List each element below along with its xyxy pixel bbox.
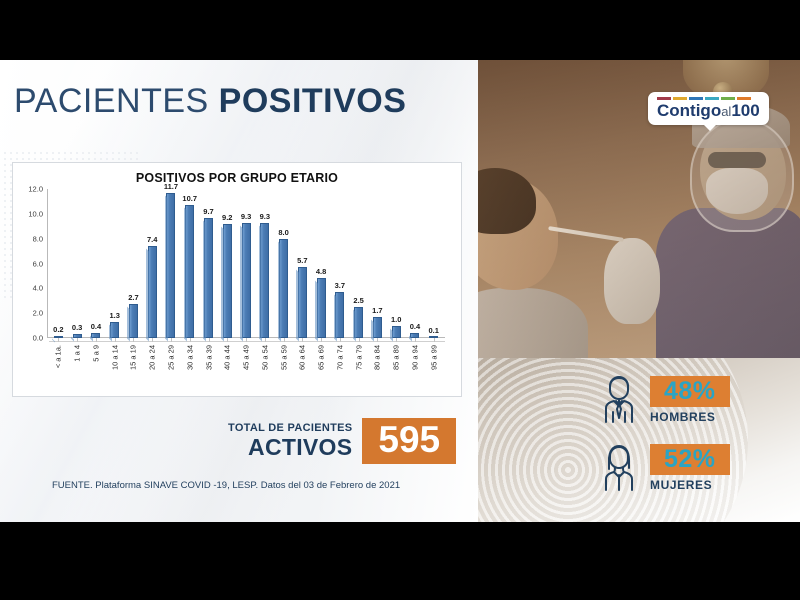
bar	[279, 239, 288, 338]
x-tick-label: 45 a 49	[242, 345, 251, 370]
x-tick-label: 10 a 14	[110, 345, 119, 370]
source-note: FUENTE. Plataforma SINAVE COVID -19, LES…	[52, 480, 400, 491]
total-label-line2: ACTIVOS	[228, 436, 352, 459]
bar-value-label: 0.4	[410, 322, 420, 331]
total-label-group: TOTAL DE PACIENTES ACTIVOS	[228, 423, 362, 459]
mujeres-label: MUJERES	[650, 478, 712, 492]
bar	[204, 218, 213, 338]
logo-bar-3	[705, 97, 719, 100]
bar	[260, 223, 269, 338]
total-active-patients: TOTAL DE PACIENTES ACTIVOS 595	[228, 418, 456, 464]
logo-name-light: al	[721, 104, 731, 119]
bar-value-label: 8.0	[278, 228, 288, 237]
bar-group: 3.770 a 74	[330, 189, 349, 338]
x-tick-label: 90 a 94	[410, 345, 419, 370]
logo-bar-1	[673, 97, 687, 100]
x-tick-label: 35 a 39	[204, 345, 213, 370]
x-tick	[377, 338, 378, 342]
y-tick-label: 0.0	[33, 334, 43, 343]
bar-group: 10.730 a 34	[180, 189, 199, 338]
female-user-icon	[596, 440, 642, 492]
page-title-bold: POSITIVOS	[219, 82, 407, 120]
gender-stats-panel: 48% HOMBRES 52% MUJ	[478, 358, 800, 522]
bar	[373, 317, 382, 338]
x-tick-label: 80 a 84	[373, 345, 382, 370]
x-tick-label: 70 a 74	[335, 345, 344, 370]
bar-group: 0.490 a 94	[406, 189, 425, 338]
bar	[317, 278, 326, 338]
x-tick	[133, 338, 134, 342]
x-tick-label: 30 a 34	[185, 345, 194, 370]
x-tick-label: 50 a 54	[260, 345, 269, 370]
x-tick-label: 1 a 4	[73, 345, 82, 362]
bar-group: 4.865 a 69	[312, 189, 331, 338]
bar-group: 9.345 a 49	[237, 189, 256, 338]
x-tick-label: 5 a 9	[91, 345, 100, 362]
bar-group: 1.085 a 89	[387, 189, 406, 338]
x-tick	[171, 338, 172, 342]
bar-group: 1.310 a 14	[105, 189, 124, 338]
bar-group: 0.31 a 4	[68, 189, 87, 338]
bar	[354, 307, 363, 338]
bar	[242, 223, 251, 338]
x-tick-label: 75 a 79	[354, 345, 363, 370]
x-tick-label: 40 a 44	[223, 345, 232, 370]
bar-group: 2.575 a 79	[349, 189, 368, 338]
bar-group: 9.350 a 54	[255, 189, 274, 338]
x-tick	[396, 338, 397, 342]
bar-value-label: 3.7	[335, 281, 345, 290]
bar-series: 0.2< a 1a.0.31 a 40.45 a 91.310 a 142.71…	[49, 189, 443, 338]
bar-group: 9.735 a 39	[199, 189, 218, 338]
x-tick	[96, 338, 97, 342]
hombres-percent: 48%	[650, 376, 730, 407]
logo-wordmark: Contigoal100	[657, 102, 760, 119]
y-tick-label: 6.0	[33, 259, 43, 268]
bar-value-label: 0.4	[91, 322, 101, 331]
bar-group: 8.055 a 59	[274, 189, 293, 338]
slide-content: PACIENTES POSITIVOS POSITIVOS POR GRUPO …	[0, 60, 800, 522]
chart-card: POSITIVOS POR GRUPO ETARIO 0.02.04.06.08…	[12, 162, 462, 397]
bar-group: 0.2< a 1a.	[49, 189, 68, 338]
bar-value-label: 0.1	[428, 326, 438, 335]
bar	[223, 224, 232, 338]
bar-value-label: 1.7	[372, 306, 382, 315]
x-tick	[209, 338, 210, 342]
bar-value-label: 4.8	[316, 267, 326, 276]
bar	[110, 322, 119, 338]
x-tick	[190, 338, 191, 342]
y-tick-label: 12.0	[28, 185, 43, 194]
x-tick	[415, 338, 416, 342]
bar-value-label: 9.3	[241, 212, 251, 221]
chart-plot-area: 0.02.04.06.08.010.012.0 0.2< a 1a.0.31 a…	[47, 189, 445, 338]
x-tick	[340, 338, 341, 342]
bar	[298, 267, 307, 338]
logo-bar-2	[689, 97, 703, 100]
bar-value-label: 1.3	[109, 311, 119, 320]
bar	[129, 304, 138, 338]
x-tick-label: 85 a 89	[392, 345, 401, 370]
mujeres-percent: 52%	[650, 444, 730, 475]
bar-group: 1.780 a 84	[368, 189, 387, 338]
bar-group: 0.195 a 99	[424, 189, 443, 338]
total-label-line1: TOTAL DE PACIENTES	[228, 423, 352, 434]
x-tick	[77, 338, 78, 342]
x-tick	[58, 338, 59, 342]
total-value-badge: 595	[362, 418, 456, 464]
x-tick	[321, 338, 322, 342]
page-title: PACIENTES POSITIVOS	[14, 82, 406, 121]
bar-group: 2.715 a 19	[124, 189, 143, 338]
hombres-label: HOMBRES	[650, 410, 716, 424]
x-tick-label: 60 a 64	[298, 345, 307, 370]
bar-group: 7.420 a 24	[143, 189, 162, 338]
bar	[166, 193, 175, 338]
bar-value-label: 5.7	[297, 256, 307, 265]
covid-swab-photo: Contigoal100	[478, 60, 800, 360]
bar	[392, 326, 401, 338]
bar-value-label: 0.2	[53, 325, 63, 334]
x-tick	[115, 338, 116, 342]
bar-value-label: 10.7	[182, 194, 197, 203]
x-tick-label: 25 a 29	[166, 345, 175, 370]
y-tick-label: 2.0	[33, 309, 43, 318]
bar-value-label: 9.7	[203, 207, 213, 216]
male-user-icon	[596, 372, 642, 424]
x-tick-label: 20 a 24	[148, 345, 157, 370]
bar-group: 11.725 a 29	[162, 189, 181, 338]
y-tick-label: 8.0	[33, 234, 43, 243]
x-tick-label: 15 a 19	[129, 345, 138, 370]
bar-value-label: 7.4	[147, 235, 157, 244]
bar	[335, 292, 344, 338]
y-tick-label: 4.0	[33, 284, 43, 293]
x-tick	[359, 338, 360, 342]
x-tick	[246, 338, 247, 342]
page-title-light: PACIENTES	[14, 82, 219, 120]
gender-row-mujeres: 52% MUJERES	[650, 444, 730, 475]
logo-bar-5	[737, 97, 751, 100]
x-tick-label: 95 a 99	[429, 345, 438, 370]
bar-group: 0.45 a 9	[87, 189, 106, 338]
x-tick	[434, 338, 435, 342]
bar-value-label: 2.5	[353, 296, 363, 305]
logo-bar-4	[721, 97, 735, 100]
bar-value-label: 9.3	[260, 212, 270, 221]
bar-group: 9.240 a 44	[218, 189, 237, 338]
bar-value-label: 2.7	[128, 293, 138, 302]
x-tick	[302, 338, 303, 342]
y-tick-label: 10.0	[28, 209, 43, 218]
bar-value-label: 9.2	[222, 213, 232, 222]
x-tick	[265, 338, 266, 342]
logo-bar-0	[657, 97, 671, 100]
left-panel: PACIENTES POSITIVOS POSITIVOS POR GRUPO …	[0, 60, 478, 522]
x-tick	[284, 338, 285, 342]
x-tick-label: 55 a 59	[279, 345, 288, 370]
contigo-al-100-logo: Contigoal100	[648, 92, 769, 125]
slide-screenshot: PACIENTES POSITIVOS POSITIVOS POR GRUPO …	[0, 0, 800, 600]
bar-group: 5.760 a 64	[293, 189, 312, 338]
x-tick	[152, 338, 153, 342]
x-tick	[227, 338, 228, 342]
chart-title: POSITIVOS POR GRUPO ETARIO	[13, 163, 461, 185]
y-axis	[47, 189, 48, 338]
logo-name-number: 100	[731, 101, 759, 120]
bar	[148, 246, 157, 338]
bar-value-label: 1.0	[391, 315, 401, 324]
gender-row-hombres: 48% HOMBRES	[650, 376, 730, 407]
bar	[185, 205, 194, 338]
bar-value-label: 11.7	[164, 182, 178, 191]
bar-value-label: 0.3	[72, 323, 82, 332]
x-tick-label: 65 a 69	[317, 345, 326, 370]
logo-color-bars	[657, 97, 760, 100]
logo-name-bold: Contigo	[657, 101, 721, 120]
right-panel: Contigoal100	[478, 60, 800, 522]
x-tick-label: < a 1a.	[54, 345, 63, 368]
